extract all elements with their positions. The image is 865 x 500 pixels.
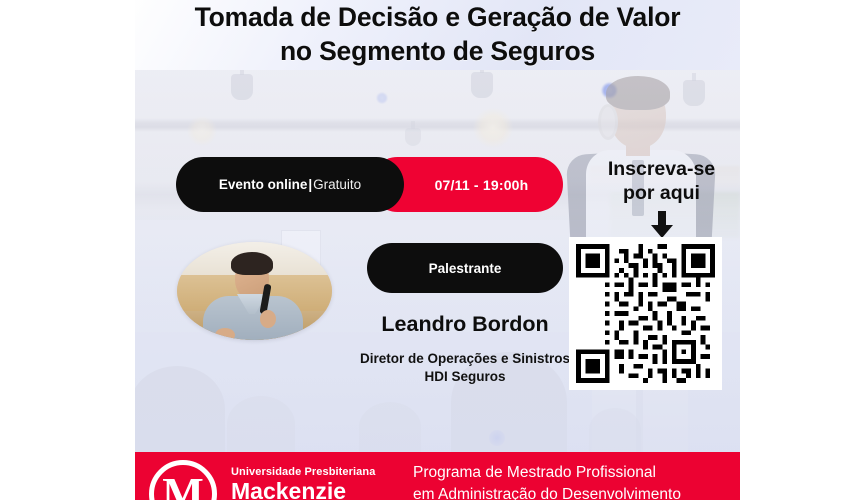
program-line-2: em Administração do Desenvolvimento — [413, 484, 733, 500]
logo-letter: M — [149, 472, 217, 500]
arrow-down-icon — [651, 211, 673, 238]
event-modality-label: Evento online — [219, 177, 308, 192]
signup-callout: Inscreva-se por aqui — [583, 158, 740, 238]
signup-line-2: por aqui — [583, 182, 740, 206]
title-line-2: no Segmento de Seguros — [135, 35, 740, 69]
speaker-name: Leandro Bordon — [367, 312, 563, 337]
program-text: Programa de Mestrado Profissional em Adm… — [413, 462, 733, 500]
signup-text: Inscreva-se por aqui — [583, 158, 740, 206]
speaker-hand — [260, 310, 276, 328]
speaker-hand-secondary — [215, 328, 235, 340]
qr-code-icon[interactable] — [576, 244, 715, 383]
signup-line-1: Inscreva-se — [583, 158, 740, 182]
speaker-photo — [177, 242, 332, 340]
footer-band: M Universidade Presbiteriana Mackenzie P… — [135, 452, 740, 500]
event-price-label: Gratuito — [313, 177, 361, 192]
event-info-pill: Evento online | Gratuito 07/11 - 19:00h — [176, 157, 563, 212]
speaker-company: HDI Seguros — [331, 368, 599, 386]
university-line: Universidade Presbiteriana — [231, 466, 375, 478]
mackenzie-logo-icon: M — [149, 460, 217, 500]
speaker-job-title: Diretor de Operações e Sinistros — [331, 350, 599, 368]
event-poster: Tomada de Decisão e Geração de Valor no … — [135, 0, 740, 500]
program-line-1: Programa de Mestrado Profissional — [413, 464, 656, 481]
page-title: Tomada de Decisão e Geração de Valor no … — [135, 1, 740, 69]
university-branding: Universidade Presbiteriana Mackenzie — [231, 466, 375, 500]
speaker-role: Diretor de Operações e Sinistros HDI Seg… — [331, 350, 599, 386]
speaker-hair — [231, 252, 273, 275]
event-modality-pill: Evento online | Gratuito — [176, 157, 404, 212]
qr-code-panel[interactable] — [569, 237, 722, 390]
title-line-1: Tomada de Decisão e Geração de Valor — [195, 2, 681, 32]
palestrante-badge: Palestrante — [367, 243, 563, 293]
poster-canvas: Tomada de Decisão e Geração de Valor no … — [0, 0, 865, 500]
university-name: Mackenzie — [231, 479, 375, 500]
